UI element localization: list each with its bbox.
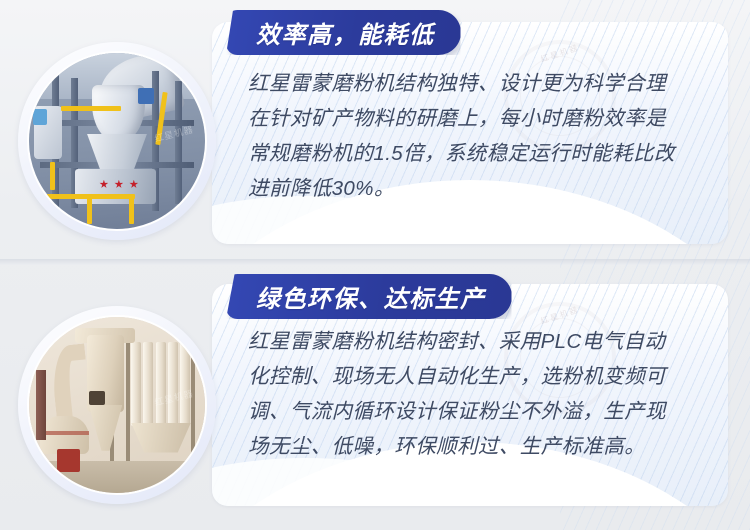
feature-photo-circle: 红星机器: [18, 306, 216, 504]
feature-badge-label: 效率高，能耗低: [256, 15, 435, 50]
feature-badge-environment: 绿色环保、达标生产: [226, 274, 512, 319]
feature-section-efficiency: 红星机器 红星雷蒙磨粉机结构独特、设计更为科学合理 在针对矿产物料的研磨上，每小…: [0, 0, 750, 268]
promo-page: 红星机器 红星雷蒙磨粉机结构独特、设计更为科学合理 在针对矿产物料的研磨上，每小…: [0, 0, 750, 530]
feature-section-environment: 红星机器 红星雷蒙磨粉机结构密封、采用PLC电气自动 化控制、现场无人自动化生产…: [0, 262, 750, 530]
feature-body-text: 红星雷蒙磨粉机结构密封、采用PLC电气自动 化控制、现场无人自动化生产，选粉机变…: [248, 324, 710, 464]
mill-plant-illustration: [29, 53, 205, 229]
raymond-mill-illustration: [29, 317, 205, 493]
feature-badge-label: 绿色环保、达标生产: [256, 279, 486, 314]
section-divider: [0, 259, 750, 265]
feature-body-text: 红星雷蒙磨粉机结构独特、设计更为科学合理 在针对矿产物料的研磨上，每小时磨粉效率…: [248, 66, 710, 206]
feature-photo-image: 红星机器: [27, 51, 207, 231]
feature-photo-circle: 红星机器: [18, 42, 216, 240]
feature-photo-image: 红星机器: [27, 315, 207, 495]
feature-badge-efficiency: 效率高，能耗低: [226, 10, 461, 55]
